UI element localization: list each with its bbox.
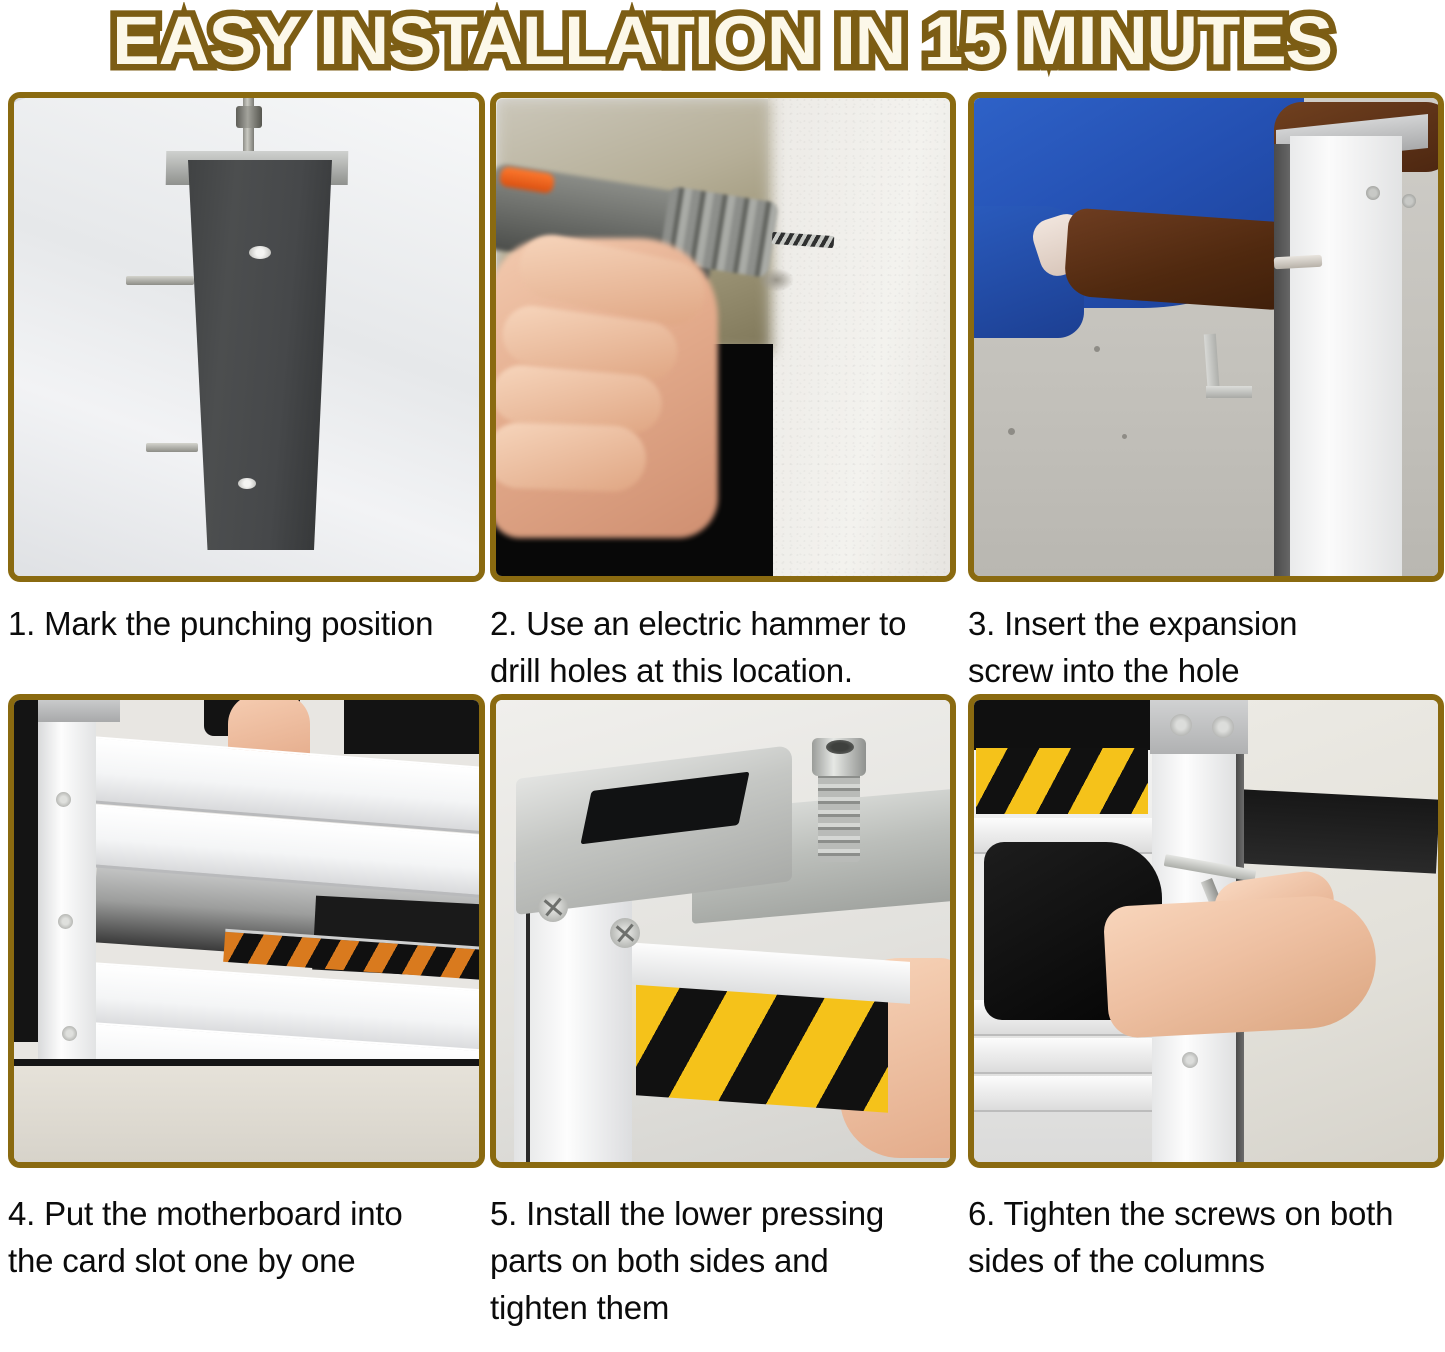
step-card-5: 5. Install the lower pressing parts on b…: [487, 694, 960, 1331]
barrier-board: [974, 1076, 1164, 1112]
barrier-board: [974, 1038, 1164, 1074]
column-screw: [1366, 186, 1380, 200]
hex-socket: [826, 740, 854, 754]
phillips-screw: [610, 918, 640, 948]
phillips-screw: [538, 892, 568, 922]
column-screw: [62, 1026, 77, 1041]
dark-person-silhouette: [344, 700, 479, 754]
side-bolt-upper: [126, 276, 194, 285]
step-card-2: 2. Use an electric hammer to drill holes…: [487, 92, 960, 694]
floor-surface: [14, 1059, 479, 1162]
step-1-caption: 1. Mark the punching position: [8, 582, 473, 647]
title-banner: EASY INSTALLATION IN 15 MINUTES: [0, 0, 1445, 92]
step-6-photo: [974, 700, 1438, 1162]
phillips-screw: [1212, 716, 1234, 738]
step-card-3: 3. Insert the expansion screw into the h…: [960, 92, 1445, 694]
floor-speck: [1122, 434, 1127, 439]
steps-row-bottom: 4. Put the motherboard into the card slo…: [0, 694, 1445, 1331]
step-3-photo-frame: [968, 92, 1444, 582]
hazard-stripe-board: [976, 748, 1148, 814]
white-column: [1290, 136, 1402, 576]
mounting-hole-upper: [249, 246, 271, 259]
phillips-screw: [1170, 714, 1192, 736]
floor-speck: [1008, 428, 1015, 435]
expansion-screw: [1274, 255, 1323, 269]
installation-steps-grid: 1. Mark the punching position: [0, 92, 1445, 1331]
side-bolt-lower: [146, 443, 198, 452]
mounting-hole-lower: [238, 478, 256, 489]
column-screw: [56, 792, 71, 807]
step-3-caption: 3. Insert the expansion screw into the h…: [968, 582, 1432, 694]
phillips-screw: [1182, 1052, 1198, 1068]
dark-skirting-board: [1220, 788, 1438, 873]
step-2-caption: 2. Use an electric hammer to drill holes…: [490, 582, 944, 694]
column-screw: [58, 914, 73, 929]
step-4-caption: 4. Put the motherboard into the card slo…: [8, 1168, 473, 1284]
step-5-caption: 5. Install the lower pressing parts on b…: [490, 1168, 944, 1331]
drill-dust: [758, 268, 794, 292]
floor-speck: [1094, 346, 1100, 352]
step-1-photo-frame: [8, 92, 485, 582]
white-column: [38, 700, 96, 1066]
step-5-photo: [496, 700, 950, 1162]
installer-hand: [1103, 893, 1380, 1039]
steps-row-top: 1. Mark the punching position: [0, 92, 1445, 694]
step-card-4: 4. Put the motherboard into the card slo…: [0, 694, 487, 1331]
step-3-photo: [974, 98, 1438, 576]
nut-icon: [236, 106, 262, 128]
column-screw: [1402, 194, 1416, 208]
dark-background-top: [974, 700, 1156, 750]
step-5-photo-frame: [490, 694, 956, 1168]
finger: [496, 421, 647, 493]
white-wall-surface: [768, 98, 950, 576]
step-4-photo-frame: [8, 694, 485, 1168]
step-4-photo: [14, 700, 479, 1162]
step-6-caption: 6. Tighten the screws on both sides of t…: [968, 1168, 1432, 1284]
step-card-1: 1. Mark the punching position: [0, 92, 487, 694]
step-2-photo: [496, 98, 950, 576]
page-title: EASY INSTALLATION IN 15 MINUTES: [113, 2, 1333, 80]
column-edge-line: [526, 912, 530, 1162]
step-2-photo-frame: [490, 92, 956, 582]
step-1-photo: [14, 98, 479, 576]
step-6-photo-frame: [968, 694, 1444, 1168]
step-card-6: 6. Tighten the screws on both sides of t…: [960, 694, 1445, 1331]
allen-key-foot: [1206, 386, 1252, 398]
column-top-plate: [38, 700, 120, 722]
